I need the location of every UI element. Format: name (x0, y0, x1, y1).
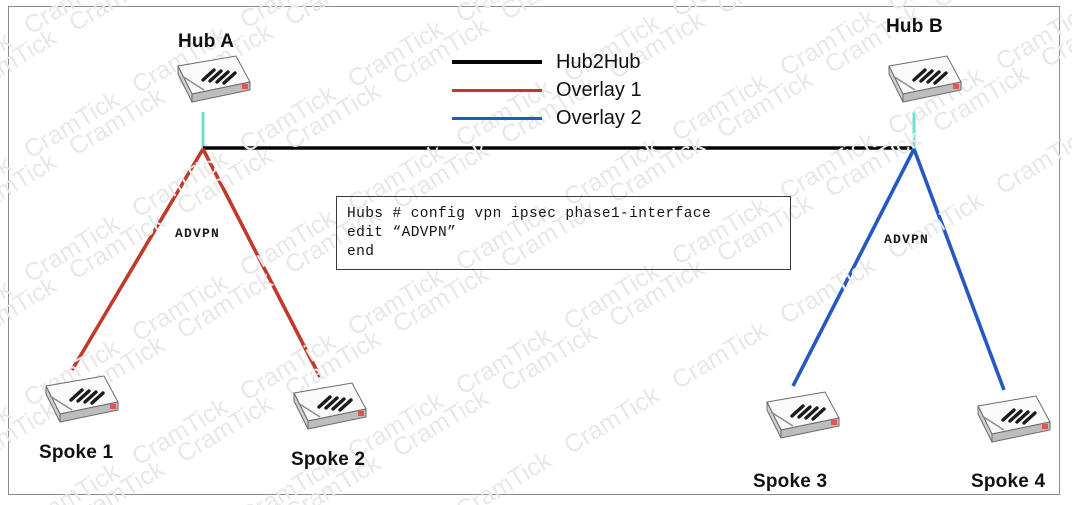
link-overlay1-spoke1 (72, 149, 203, 370)
legend-swatch-overlay1 (452, 89, 542, 92)
legend-label-overlay2: Overlay 2 (556, 107, 642, 130)
label-spoke-1: Spoke 1 (39, 442, 113, 464)
link-label-advpn-left: ADVPN (175, 226, 220, 241)
legend-item-hub2hub: Hub2Hub (452, 48, 642, 76)
legend-label-overlay1: Overlay 1 (556, 79, 642, 102)
link-label-advpn-right: ADVPN (884, 232, 929, 247)
device-hub-a[interactable] (158, 52, 254, 114)
legend: Hub2Hub Overlay 1 Overlay 2 (452, 48, 642, 132)
cli-config-text: Hubs # config vpn ipsec phase1-interface… (347, 205, 790, 262)
legend-swatch-hub2hub (452, 60, 542, 64)
diagram-canvas: CramTickCramTickCramTickCramTickCramTick… (0, 0, 1072, 505)
link-overlay1-spoke2 (203, 149, 320, 377)
device-hub-b[interactable] (869, 52, 965, 114)
cli-config-box: Hubs # config vpn ipsec phase1-interface… (336, 196, 791, 270)
legend-swatch-overlay2 (452, 117, 542, 120)
link-overlay2-spoke3 (793, 149, 914, 386)
device-spoke-4[interactable] (958, 392, 1054, 454)
label-hub-b: Hub B (886, 16, 943, 38)
legend-item-overlay2: Overlay 2 (452, 104, 642, 132)
device-spoke-3[interactable] (747, 388, 843, 450)
label-spoke-2: Spoke 2 (291, 449, 365, 471)
label-spoke-4: Spoke 4 (971, 471, 1045, 493)
link-overlay2-spoke4 (914, 149, 1004, 390)
label-hub-a: Hub A (178, 31, 234, 53)
device-spoke-2[interactable] (274, 379, 370, 441)
legend-item-overlay1: Overlay 1 (452, 76, 642, 104)
label-spoke-3: Spoke 3 (753, 471, 827, 493)
legend-label-hub2hub: Hub2Hub (556, 51, 641, 74)
device-spoke-1[interactable] (26, 372, 122, 434)
